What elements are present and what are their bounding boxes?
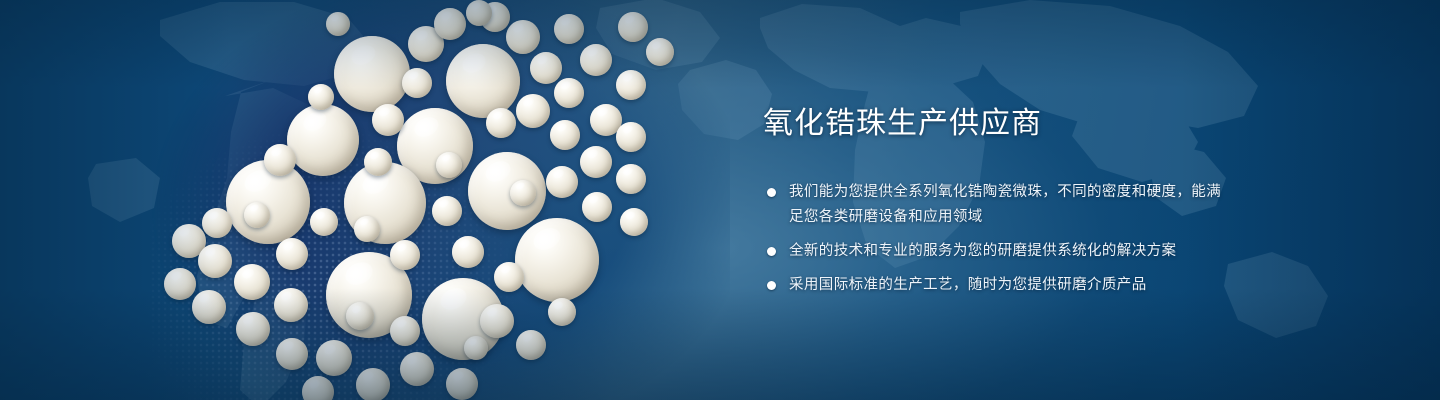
banner-headline: 氧化锆珠生产供应商 — [763, 104, 1233, 144]
list-item-text: 采用国际标准的生产工艺，随时为您提供研磨介质产品 — [789, 277, 1147, 293]
bullet-dot-icon — [767, 188, 776, 197]
list-item: 采用国际标准的生产工艺，随时为您提供研磨介质产品 — [763, 273, 1233, 298]
feature-list: 我们能为您提供全系列氧化锆陶瓷微珠，不同的密度和硬度，能满足您各类研磨设备和应用… — [763, 180, 1233, 298]
bullet-dot-icon — [767, 247, 776, 256]
list-item: 全新的技术和专业的服务为您的研磨提供系统化的解决方案 — [763, 239, 1233, 264]
list-item: 我们能为您提供全系列氧化锆陶瓷微珠，不同的密度和硬度，能满足您各类研磨设备和应用… — [763, 180, 1233, 230]
banner-content: 氧化锆珠生产供应商 我们能为您提供全系列氧化锆陶瓷微珠，不同的密度和硬度，能满足… — [763, 104, 1233, 298]
list-item-text: 全新的技术和专业的服务为您的研磨提供系统化的解决方案 — [789, 243, 1176, 259]
bullet-dot-icon — [767, 281, 776, 290]
hero-banner: 氧化锆珠生产供应商 我们能为您提供全系列氧化锆陶瓷微珠，不同的密度和硬度，能满足… — [0, 0, 1440, 400]
list-item-text: 我们能为您提供全系列氧化锆陶瓷微珠，不同的密度和硬度，能满足您各类研磨设备和应用… — [789, 184, 1221, 225]
